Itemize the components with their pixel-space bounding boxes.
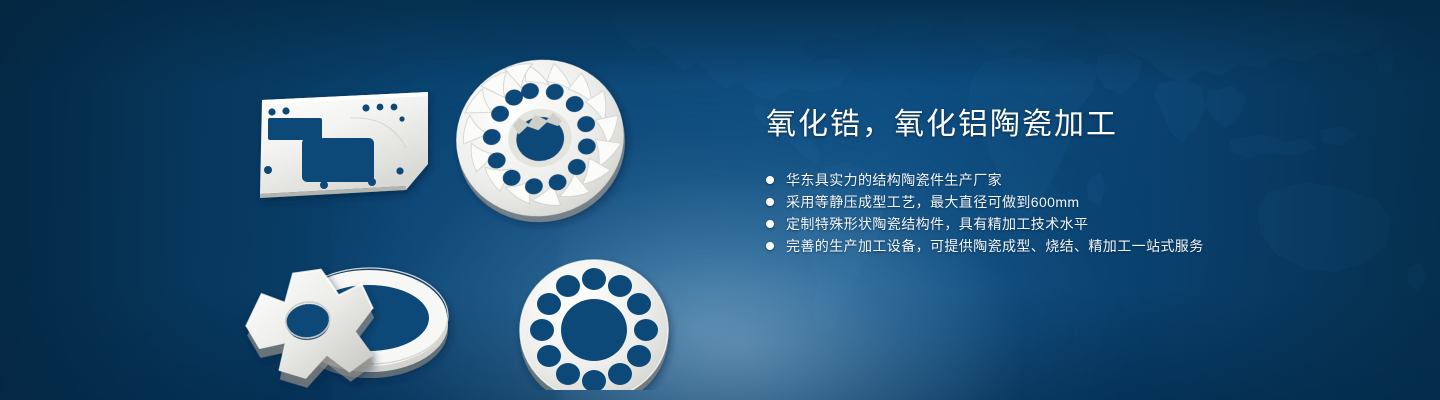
bullet-dot-icon bbox=[766, 242, 774, 250]
bullet-dot-icon bbox=[766, 220, 774, 228]
list-item-label: 定制特殊形状陶瓷结构件，具有精加工技术水平 bbox=[786, 216, 1088, 232]
list-item-label: 华东具实力的结构陶瓷件生产厂家 bbox=[786, 172, 1002, 188]
list-item-label: 采用等静压成型工艺，最大直径可做到600mm bbox=[786, 194, 1079, 210]
hero-banner: 氧化锆，氧化铝陶瓷加工 华东具实力的结构陶瓷件生产厂家 采用等静压成型工艺，最大… bbox=[0, 0, 1440, 400]
list-item: 定制特殊形状陶瓷结构件，具有精加工技术水平 bbox=[764, 213, 1384, 235]
bullet-dot-icon bbox=[766, 198, 774, 206]
banner-feature-list: 华东具实力的结构陶瓷件生产厂家 采用等静压成型工艺，最大直径可做到600mm 定… bbox=[764, 169, 1384, 257]
ceramic-parts-photo bbox=[230, 30, 700, 390]
list-item: 华东具实力的结构陶瓷件生产厂家 bbox=[764, 169, 1384, 191]
ceramic-impeller-part bbox=[442, 44, 640, 237]
ceramic-plate-part bbox=[260, 92, 428, 198]
list-item-label: 完善的生产加工设备，可提供陶瓷成型、烧结、精加工一站式服务 bbox=[786, 238, 1204, 254]
bullet-dot-icon bbox=[766, 176, 774, 184]
list-item: 采用等静压成型工艺，最大直径可做到600mm bbox=[764, 191, 1384, 213]
banner-text-column: 氧化锆，氧化铝陶瓷加工 华东具实力的结构陶瓷件生产厂家 采用等静压成型工艺，最大… bbox=[764, 105, 1384, 257]
ceramic-perforated-disc-part bbox=[520, 260, 668, 390]
list-item: 完善的生产加工设备，可提供陶瓷成型、烧结、精加工一站式服务 bbox=[764, 235, 1384, 257]
banner-title: 氧化锆，氧化铝陶瓷加工 bbox=[766, 105, 1384, 145]
